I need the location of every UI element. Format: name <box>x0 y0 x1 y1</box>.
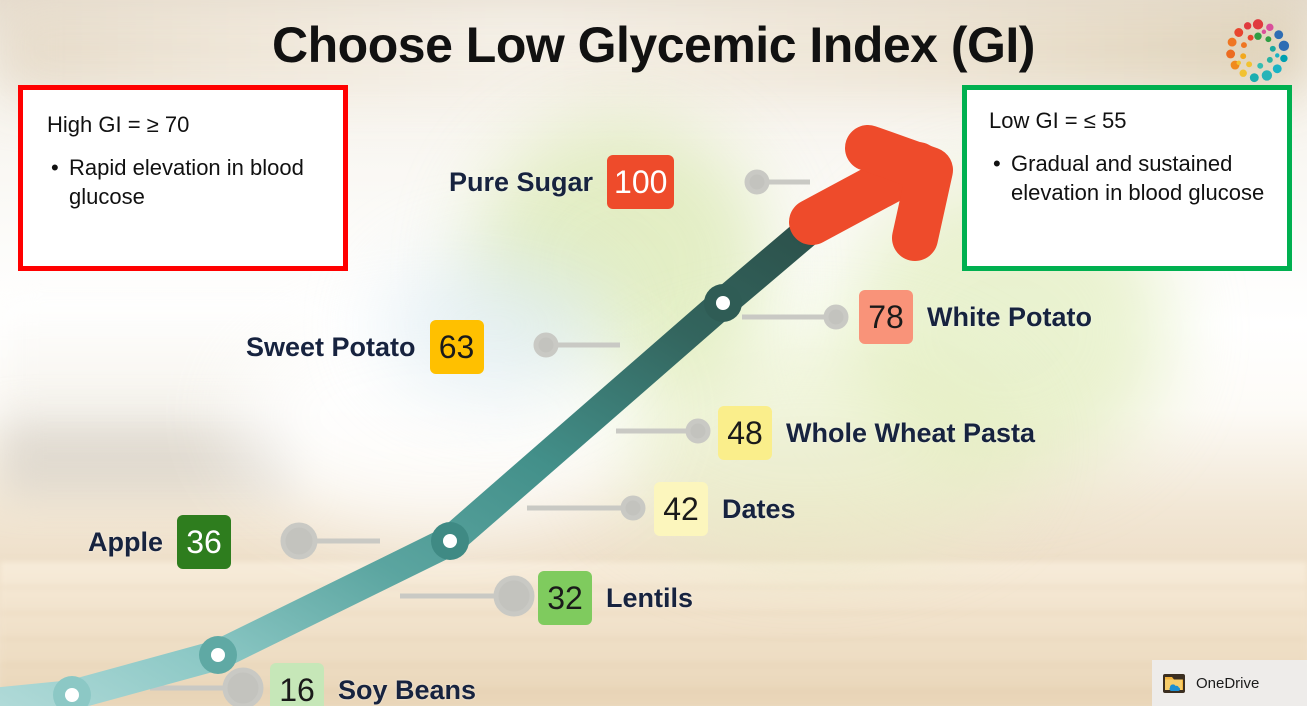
onedrive-label: OneDrive <box>1196 675 1259 692</box>
data-badge-value: 32 <box>538 571 592 625</box>
data-label-whole-wheat-pasta[interactable]: 48 Whole Wheat Pasta <box>718 406 1035 460</box>
callout-low-bullet: Gradual and sustained elevation in blood… <box>1011 149 1273 207</box>
data-label-dates[interactable]: 42 Dates <box>654 482 796 536</box>
callout-high-gi: High GI = ≥ 70 Rapid elevation in blood … <box>18 85 348 271</box>
callout-low-heading: Low GI = ≤ 55 <box>989 106 1273 135</box>
up-right-arrow-icon <box>812 148 930 238</box>
callout-high-bullet: Rapid elevation in blood glucose <box>69 153 327 211</box>
data-badge-value: 16 <box>270 663 324 706</box>
data-badge-value: 100 <box>607 155 674 209</box>
data-badge-value: 78 <box>859 290 913 344</box>
data-label-lentils[interactable]: 32 Lentils <box>538 571 693 625</box>
data-label-name: Sweet Potato <box>246 332 416 363</box>
data-label-sweet-potato[interactable]: Sweet Potato 63 <box>246 320 484 374</box>
page-title: Choose Low Glycemic Index (GI) <box>0 16 1307 74</box>
onedrive-shortcut[interactable]: OneDrive <box>1152 660 1307 706</box>
data-label-soy-beans[interactable]: 16 Soy Beans <box>270 663 476 706</box>
callout-low-gi: Low GI = ≤ 55 Gradual and sustained elev… <box>962 85 1292 271</box>
callout-high-bullet-list: Rapid elevation in blood glucose <box>47 153 327 211</box>
slide-canvas: Pure Sugar 100 78 White Potato Sweet Pot… <box>0 0 1307 706</box>
callout-low-bullet-list: Gradual and sustained elevation in blood… <box>989 149 1273 207</box>
data-label-name: Whole Wheat Pasta <box>786 418 1035 449</box>
data-label-pure-sugar[interactable]: Pure Sugar 100 <box>449 155 674 209</box>
data-label-white-potato[interactable]: 78 White Potato <box>859 290 1092 344</box>
callout-high-heading: High GI = ≥ 70 <box>47 110 327 139</box>
onedrive-folder-icon <box>1162 671 1186 695</box>
data-badge-value: 42 <box>654 482 708 536</box>
data-badge-value: 36 <box>177 515 231 569</box>
data-label-name: Lentils <box>606 583 693 614</box>
data-label-name: Apple <box>88 527 163 558</box>
data-label-apple[interactable]: Apple 36 <box>88 515 231 569</box>
colored-dots-circle-logo <box>1221 14 1295 88</box>
data-badge-value: 63 <box>430 320 484 374</box>
data-label-name: White Potato <box>927 302 1092 333</box>
data-badge-value: 48 <box>718 406 772 460</box>
data-label-name: Soy Beans <box>338 675 476 706</box>
data-label-name: Pure Sugar <box>449 167 593 198</box>
data-label-name: Dates <box>722 494 796 525</box>
gi-trend-line <box>0 219 822 704</box>
